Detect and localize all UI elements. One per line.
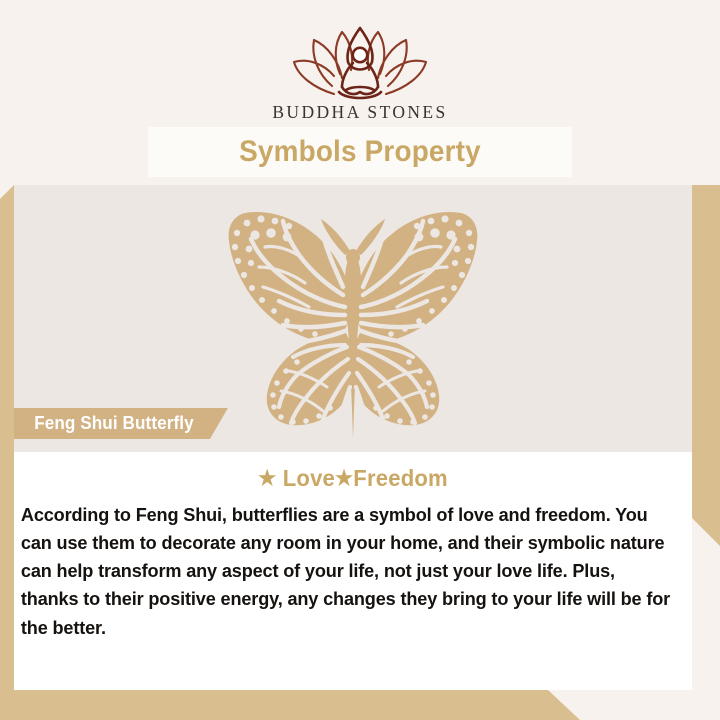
description-block: ★ Love★Freedom According to Feng Shui, b… — [14, 452, 692, 690]
star-icon-middle: ★ — [335, 467, 353, 490]
category-tag: Feng Shui Butterfly — [14, 408, 228, 439]
star-icon-left: ★ — [258, 467, 276, 490]
subtitle: ★ Love★Freedom — [28, 465, 679, 492]
lotus-meditation-icon — [284, 22, 436, 100]
brand-name: BUDDHA STONES — [0, 102, 720, 123]
header: BUDDHA STONES Symbols Property — [0, 0, 720, 185]
subtitle-word-freedom: Freedom — [353, 465, 448, 491]
product-info-card: BUDDHA STONES Symbols Property — [0, 0, 720, 720]
description-text: According to Feng Shui, butterflies are … — [14, 501, 682, 642]
brand-logo: BUDDHA STONES — [0, 22, 720, 123]
monarch-butterfly-icon — [193, 195, 513, 445]
page-title: Symbols Property — [239, 135, 481, 169]
frame-band-bottom — [0, 690, 580, 720]
frame-band-left — [0, 185, 14, 690]
title-banner: Symbols Property — [148, 127, 572, 177]
subtitle-word-love: Love — [283, 465, 335, 491]
category-tag-label: Feng Shui Butterfly — [34, 413, 194, 434]
